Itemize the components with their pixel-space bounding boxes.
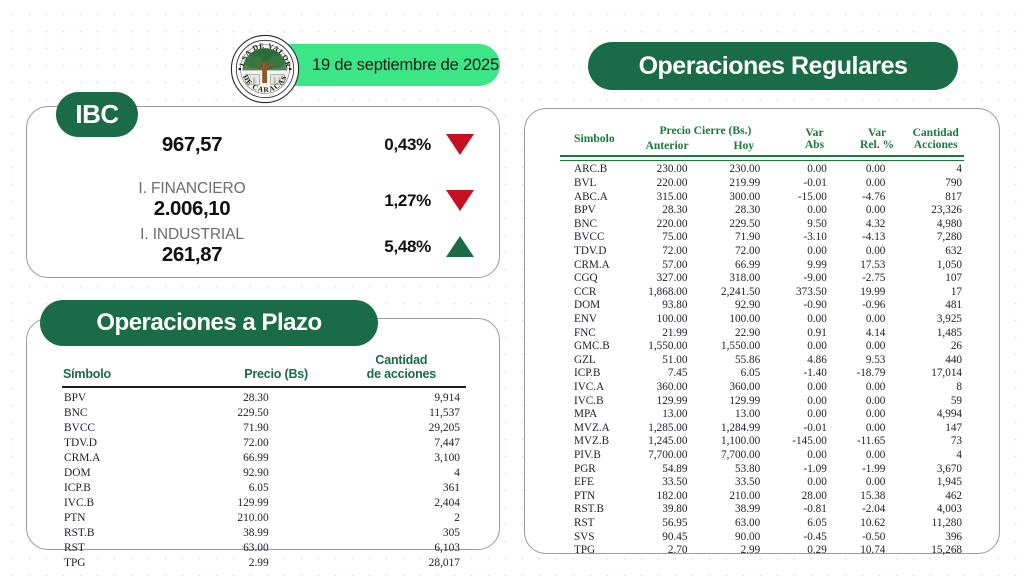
triangle-up-icon [445, 236, 475, 257]
reg-cell-var-abs: 0.00 [782, 394, 847, 408]
reg-cell-var-abs: -145.00 [782, 435, 847, 449]
reg-cell-anterior: 39.80 [629, 503, 706, 517]
table-row: GZL51.0055.864.869.53440 [560, 354, 964, 368]
reg-cell-cantidad: 4 [907, 160, 964, 176]
reg-cell-var-rel: 0.00 [847, 449, 908, 463]
reg-cell-symbol: CRM.A [560, 258, 629, 272]
reg-cell-symbol: BVCC [560, 231, 629, 245]
table-row: TDV.D72.0072.000.000.00632 [560, 245, 964, 259]
reg-cell-anterior: 13.00 [629, 408, 706, 422]
reg-cell-var-rel: -4.13 [847, 231, 908, 245]
reg-cell-anterior: 72.00 [629, 245, 706, 259]
regulares-table-body: ARC.B230.00230.000.000.004BVL220.00219.9… [560, 160, 964, 557]
reg-col-quantity-line1: Cantidad [907, 126, 964, 139]
reg-cell-cantidad: 147 [907, 422, 964, 436]
reg-cell-var-rel: 10.62 [847, 517, 908, 531]
reg-cell-var-abs: 0.00 [782, 476, 847, 490]
reg-cell-anterior: 1,285.00 [629, 422, 706, 436]
reg-cell-symbol: MVZ.A [560, 422, 629, 436]
table-row: MVZ.B1,245.001,100.00-145.00-11.6573 [560, 435, 964, 449]
reg-cell-hoy: 66.99 [705, 258, 782, 272]
reg-cell-anterior: 1,868.00 [629, 286, 706, 300]
reg-cell-hoy: 33.50 [705, 476, 782, 490]
table-row: RST.B39.8038.99-0.81-2.044,003 [560, 503, 964, 517]
reg-cell-var-rel: 0.00 [847, 177, 908, 191]
reg-cell-var-rel: 0.00 [847, 340, 908, 354]
plazo-cell-symbol: BVCC [62, 421, 216, 436]
reg-col-price-group: Precio Cierre (Bs.) [629, 124, 783, 139]
table-row: BPV28.3028.300.000.0023,326 [560, 204, 964, 218]
reg-cell-hoy: 219.99 [705, 177, 782, 191]
table-row: EFE33.5033.500.000.001,945 [560, 476, 964, 490]
reg-cell-anterior: 28.30 [629, 204, 706, 218]
reg-col-anterior: Anterior [629, 139, 706, 156]
reg-cell-var-abs: 0.00 [782, 245, 847, 259]
plazo-cell-symbol: DOM [62, 466, 216, 481]
plazo-cell-quantity: 305 [337, 526, 466, 541]
reg-cell-anterior: 75.00 [629, 231, 706, 245]
operaciones-plazo-title: Operaciones a Plazo [40, 300, 378, 346]
reg-cell-hoy: 63.00 [705, 517, 782, 531]
ibc-financiero-wrap: I. FINANCIERO 2.006,10 [27, 181, 357, 221]
reg-cell-var-rel: -18.79 [847, 367, 908, 381]
reg-cell-cantidad: 1,485 [907, 326, 964, 340]
regulares-header-row-top: Simbolo Precio Cierre (Bs.) Var Abs Var … [560, 124, 964, 139]
plazo-cell-price: 72.00 [216, 436, 337, 451]
reg-cell-hoy: 300.00 [705, 190, 782, 204]
table-row: ENV100.00100.000.000.003,925 [560, 313, 964, 327]
plazo-col-price: Precio (Bs) [216, 352, 337, 387]
reg-cell-anterior: 2.70 [629, 544, 706, 558]
reg-cell-anterior: 21.99 [629, 326, 706, 340]
reg-cell-cantidad: 396 [907, 530, 964, 544]
reg-cell-cantidad: 817 [907, 190, 964, 204]
table-row: GMC.B1,550.001,550.000.000.0026 [560, 340, 964, 354]
reg-cell-hoy: 28.30 [705, 204, 782, 218]
table-row: TPG2.9928,017 [62, 556, 466, 571]
ibc-financiero-value: 2.006,10 [27, 197, 357, 221]
plazo-cell-symbol: RST.B [62, 526, 216, 541]
reg-cell-symbol: PTN [560, 490, 629, 504]
reg-cell-hoy: 100.00 [705, 313, 782, 327]
table-row: PTN210.002 [62, 511, 466, 526]
table-row: CGQ327.00318.00-9.00-2.75107 [560, 272, 964, 286]
reg-cell-var-abs: 0.00 [782, 408, 847, 422]
reg-cell-anterior: 220.00 [629, 218, 706, 232]
reg-cell-anterior: 327.00 [629, 272, 706, 286]
reg-cell-anterior: 100.00 [629, 313, 706, 327]
reg-cell-var-rel: 10.74 [847, 544, 908, 558]
plazo-cell-symbol: IVC.B [62, 496, 216, 511]
plazo-cell-price: 38.99 [216, 526, 337, 541]
operaciones-plazo-table: Símbolo Precio (Bs) Cantidad de acciones… [62, 352, 466, 571]
reg-cell-cantidad: 23,326 [907, 204, 964, 218]
reg-cell-cantidad: 73 [907, 435, 964, 449]
reg-cell-hoy: 92.90 [705, 299, 782, 313]
table-row: TPG2.702.990.2910.7415,268 [560, 544, 964, 558]
regulares-table-head: Simbolo Precio Cierre (Bs.) Var Abs Var … [560, 124, 964, 160]
table-row: RST56.9563.006.0510.6211,280 [560, 517, 964, 531]
ibc-industrial-value: 261,87 [27, 243, 357, 267]
reg-cell-anterior: 7.45 [629, 367, 706, 381]
table-row: MPA13.0013.000.000.004,994 [560, 408, 964, 422]
reg-cell-cantidad: 3,670 [907, 462, 964, 476]
reg-cell-var-rel: 0.00 [847, 422, 908, 436]
plazo-cell-symbol: BNC [62, 406, 216, 421]
reg-cell-var-rel: 0.00 [847, 476, 908, 490]
table-row: BNC229.5011,537 [62, 406, 466, 421]
reg-cell-symbol: BVL [560, 177, 629, 191]
reg-cell-var-rel: 0.00 [847, 160, 908, 176]
reg-col-var-rel: Var Rel. % [847, 124, 908, 156]
table-row: PIV.B7,700.007,700.000.000.004 [560, 449, 964, 463]
plazo-cell-price: 229.50 [216, 406, 337, 421]
reg-cell-var-abs: 0.00 [782, 381, 847, 395]
reg-cell-var-abs: -0.90 [782, 299, 847, 313]
plazo-col-symbol: Símbolo [62, 352, 216, 387]
reg-cell-hoy: 72.00 [705, 245, 782, 259]
reg-cell-symbol: FNC [560, 326, 629, 340]
reg-col-symbol: Simbolo [560, 124, 629, 156]
reg-cell-var-abs: -0.01 [782, 422, 847, 436]
plazo-table-head: Símbolo Precio (Bs) Cantidad de acciones [62, 352, 466, 387]
reg-cell-var-abs: -0.45 [782, 530, 847, 544]
plazo-cell-quantity: 4 [337, 466, 466, 481]
reg-cell-var-rel: 15.38 [847, 490, 908, 504]
reg-cell-anterior: 51.00 [629, 354, 706, 368]
reg-cell-hoy: 90.00 [705, 530, 782, 544]
reg-cell-cantidad: 462 [907, 490, 964, 504]
reg-cell-symbol: TPG [560, 544, 629, 558]
reg-cell-hoy: 1,284.99 [705, 422, 782, 436]
table-row: TDV.D72.007,447 [62, 436, 466, 451]
reg-cell-anterior: 220.00 [629, 177, 706, 191]
ibc-industrial-label: I. INDUSTRIAL [27, 227, 357, 243]
table-row: BVCC71.9029,205 [62, 421, 466, 436]
bvc-logo-icon: BOLSA DE VALORES DE CARACAS [230, 34, 300, 104]
reg-cell-anterior: 1,245.00 [629, 435, 706, 449]
ibc-financiero-pct: 1,27% [357, 191, 431, 211]
reg-cell-var-abs: -3.10 [782, 231, 847, 245]
plazo-cell-symbol: RST [62, 541, 216, 556]
reg-cell-var-rel: 4.32 [847, 218, 908, 232]
reg-cell-hoy: 229.50 [705, 218, 782, 232]
plazo-col-quantity-line2: de acciones [338, 367, 465, 381]
reg-cell-hoy: 38.99 [705, 503, 782, 517]
reg-cell-var-rel: -2.04 [847, 503, 908, 517]
operaciones-regulares-title: Operaciones Regulares [588, 42, 958, 90]
reg-cell-cantidad: 632 [907, 245, 964, 259]
reg-cell-hoy: 55.86 [705, 354, 782, 368]
reg-cell-anterior: 54.89 [629, 462, 706, 476]
reg-cell-var-rel: 0.00 [847, 381, 908, 395]
triangle-down-icon [445, 134, 475, 155]
reg-cell-var-abs: 0.00 [782, 313, 847, 327]
reg-cell-symbol: RST [560, 517, 629, 531]
reg-cell-cantidad: 4,994 [907, 408, 964, 422]
reg-cell-anterior: 1,550.00 [629, 340, 706, 354]
plazo-cell-quantity: 28,017 [337, 556, 466, 571]
reg-cell-hoy: 1,100.00 [705, 435, 782, 449]
reg-col-var-rel-line1: Var [847, 126, 908, 139]
ibc-industrial-wrap: I. INDUSTRIAL 261,87 [27, 227, 357, 267]
plazo-col-quantity: Cantidad de acciones [337, 352, 466, 387]
table-row: FNC21.9922.900.914.141,485 [560, 326, 964, 340]
reg-cell-cantidad: 4 [907, 449, 964, 463]
reg-cell-hoy: 2.99 [705, 544, 782, 558]
plazo-cell-quantity: 3,100 [337, 451, 466, 466]
reg-cell-var-abs: -0.01 [782, 177, 847, 191]
reg-cell-hoy: 318.00 [705, 272, 782, 286]
reg-cell-symbol: GMC.B [560, 340, 629, 354]
plazo-cell-price: 63.00 [216, 541, 337, 556]
reg-cell-var-rel: 0.00 [847, 408, 908, 422]
reg-cell-cantidad: 1,050 [907, 258, 964, 272]
table-row: RST.B38.99305 [62, 526, 466, 541]
reg-cell-cantidad: 1,945 [907, 476, 964, 490]
reg-cell-symbol: ABC.A [560, 190, 629, 204]
reg-cell-symbol: SVS [560, 530, 629, 544]
reg-cell-symbol: ICP.B [560, 367, 629, 381]
reg-cell-cantidad: 17,014 [907, 367, 964, 381]
plazo-cell-quantity: 7,447 [337, 436, 466, 451]
plazo-cell-quantity: 29,205 [337, 421, 466, 436]
reg-col-hoy: Hoy [705, 139, 782, 156]
reg-cell-var-rel: 0.00 [847, 313, 908, 327]
reg-cell-symbol: BNC [560, 218, 629, 232]
reg-cell-cantidad: 59 [907, 394, 964, 408]
reg-cell-cantidad: 107 [907, 272, 964, 286]
reg-cell-var-abs: -9.00 [782, 272, 847, 286]
plazo-cell-quantity: 361 [337, 481, 466, 496]
reg-cell-var-abs: 4.86 [782, 354, 847, 368]
table-row: CCR1,868.002,241.50373.5019.9917 [560, 286, 964, 300]
table-row: DOM93.8092.90-0.90-0.96481 [560, 299, 964, 313]
reg-cell-cantidad: 26 [907, 340, 964, 354]
reg-cell-anterior: 90.45 [629, 530, 706, 544]
reg-cell-var-abs: 0.91 [782, 326, 847, 340]
table-row: RST63.006,103 [62, 541, 466, 556]
reg-cell-var-abs: -1.09 [782, 462, 847, 476]
table-row: CRM.A57.0066.999.9917.531,050 [560, 258, 964, 272]
table-row: MVZ.A1,285.001,284.99-0.010.00147 [560, 422, 964, 436]
reg-cell-var-rel: 4.14 [847, 326, 908, 340]
reg-cell-anterior: 33.50 [629, 476, 706, 490]
reg-col-var-abs-line1: Var [782, 126, 847, 139]
plazo-cell-quantity: 6,103 [337, 541, 466, 556]
table-row: PTN182.00210.0028.0015.38462 [560, 490, 964, 504]
reg-cell-var-abs: 28.00 [782, 490, 847, 504]
reg-cell-var-abs: 373.50 [782, 286, 847, 300]
reg-cell-cantidad: 17 [907, 286, 964, 300]
reg-cell-var-abs: 6.05 [782, 517, 847, 531]
reg-cell-anterior: 360.00 [629, 381, 706, 395]
reg-cell-var-abs: 0.00 [782, 340, 847, 354]
table-row: SVS90.4590.00-0.45-0.50396 [560, 530, 964, 544]
reg-col-quantity-line2: Acciones [907, 138, 964, 151]
table-row: DOM92.904 [62, 466, 466, 481]
reg-cell-symbol: PGR [560, 462, 629, 476]
reg-cell-symbol: ENV [560, 313, 629, 327]
reg-cell-var-rel: 17.53 [847, 258, 908, 272]
reg-cell-anterior: 315.00 [629, 190, 706, 204]
reg-cell-var-abs: 0.00 [782, 204, 847, 218]
reg-cell-symbol: GZL [560, 354, 629, 368]
table-row: ICP.B7.456.05-1.40-18.7917,014 [560, 367, 964, 381]
ibc-industrial-pct: 5,48% [357, 237, 431, 257]
reg-cell-hoy: 7,700.00 [705, 449, 782, 463]
reg-cell-var-rel: -2.75 [847, 272, 908, 286]
reg-cell-var-rel: 0.00 [847, 394, 908, 408]
table-row: BPV28.309,914 [62, 387, 466, 406]
reg-cell-var-rel: -0.96 [847, 299, 908, 313]
plazo-cell-symbol: BPV [62, 387, 216, 406]
table-row: BVCC75.0071.90-3.10-4.137,280 [560, 231, 964, 245]
operaciones-regulares-table: Simbolo Precio Cierre (Bs.) Var Abs Var … [560, 124, 964, 558]
plazo-header-row: Símbolo Precio (Bs) Cantidad de acciones [62, 352, 466, 387]
reg-cell-cantidad: 8 [907, 381, 964, 395]
reg-cell-hoy: 2,241.50 [705, 286, 782, 300]
plazo-cell-symbol: CRM.A [62, 451, 216, 466]
reg-cell-cantidad: 3,925 [907, 313, 964, 327]
reg-col-var-rel-line2: Rel. % [847, 138, 908, 151]
table-row: BNC220.00229.509.504.324,980 [560, 218, 964, 232]
plazo-cell-symbol: TDV.D [62, 436, 216, 451]
plazo-cell-price: 2.99 [216, 556, 337, 571]
reg-cell-var-abs: 9.50 [782, 218, 847, 232]
reg-col-var-abs: Var Abs [782, 124, 847, 156]
plazo-cell-price: 210.00 [216, 511, 337, 526]
reg-cell-hoy: 1,550.00 [705, 340, 782, 354]
table-row: ICP.B6.05361 [62, 481, 466, 496]
reg-cell-anterior: 56.95 [629, 517, 706, 531]
reg-cell-symbol: PIV.B [560, 449, 629, 463]
reg-cell-anterior: 93.80 [629, 299, 706, 313]
reg-cell-var-rel: -0.50 [847, 530, 908, 544]
plazo-cell-quantity: 11,537 [337, 406, 466, 421]
reg-cell-var-abs: -15.00 [782, 190, 847, 204]
plazo-table-body: BPV28.309,914BNC229.5011,537BVCC71.9029,… [62, 387, 466, 571]
reg-cell-anterior: 129.99 [629, 394, 706, 408]
reg-cell-anterior: 182.00 [629, 490, 706, 504]
reg-cell-anterior: 7,700.00 [629, 449, 706, 463]
reg-cell-symbol: CCR [560, 286, 629, 300]
plazo-cell-price: 28.30 [216, 387, 337, 406]
reg-cell-var-rel: 19.99 [847, 286, 908, 300]
reg-cell-cantidad: 7,280 [907, 231, 964, 245]
table-row: ABC.A315.00300.00-15.00-4.76817 [560, 190, 964, 204]
dashboard-root: 19 de septiembre de 2025 BOLSA DE VALORE… [0, 0, 1024, 576]
plazo-cell-price: 129.99 [216, 496, 337, 511]
reg-cell-var-rel: 9.53 [847, 354, 908, 368]
reg-cell-cantidad: 481 [907, 299, 964, 313]
reg-cell-var-rel: 0.00 [847, 204, 908, 218]
plazo-cell-price: 92.90 [216, 466, 337, 481]
reg-cell-var-rel: -1.99 [847, 462, 908, 476]
reg-cell-hoy: 129.99 [705, 394, 782, 408]
reg-cell-cantidad: 11,280 [907, 517, 964, 531]
reg-cell-var-abs: 0.00 [782, 160, 847, 176]
reg-cell-cantidad: 790 [907, 177, 964, 191]
reg-cell-cantidad: 15,268 [907, 544, 964, 558]
reg-cell-var-rel: 0.00 [847, 245, 908, 259]
reg-cell-symbol: ARC.B [560, 160, 629, 176]
table-row: BVL220.00219.99-0.010.00790 [560, 177, 964, 191]
reg-cell-symbol: MPA [560, 408, 629, 422]
reg-cell-var-abs: 0.29 [782, 544, 847, 558]
table-row: ARC.B230.00230.000.000.004 [560, 160, 964, 176]
reg-cell-symbol: CGQ [560, 272, 629, 286]
plazo-cell-quantity: 2,404 [337, 496, 466, 511]
reg-col-quantity: Cantidad Acciones [907, 124, 964, 156]
reg-cell-cantidad: 4,980 [907, 218, 964, 232]
reg-cell-var-abs: 0.00 [782, 449, 847, 463]
plazo-cell-symbol: PTN [62, 511, 216, 526]
reg-cell-hoy: 230.00 [705, 160, 782, 176]
reg-cell-var-rel: -11.65 [847, 435, 908, 449]
reg-cell-anterior: 57.00 [629, 258, 706, 272]
reg-cell-cantidad: 4,003 [907, 503, 964, 517]
reg-cell-hoy: 22.90 [705, 326, 782, 340]
reg-cell-symbol: RST.B [560, 503, 629, 517]
table-row: PGR54.8953.80-1.09-1.993,670 [560, 462, 964, 476]
reg-cell-hoy: 71.90 [705, 231, 782, 245]
table-row: IVC.A360.00360.000.000.008 [560, 381, 964, 395]
reg-cell-var-abs: 9.99 [782, 258, 847, 272]
reg-cell-symbol: TDV.D [560, 245, 629, 259]
reg-cell-var-abs: -1.40 [782, 367, 847, 381]
plazo-cell-quantity: 2 [337, 511, 466, 526]
ibc-main-pct: 0,43% [357, 135, 431, 155]
reg-cell-symbol: IVC.B [560, 394, 629, 408]
reg-cell-symbol: EFE [560, 476, 629, 490]
plazo-cell-symbol: ICP.B [62, 481, 216, 496]
reg-cell-symbol: BPV [560, 204, 629, 218]
reg-cell-var-rel: -4.76 [847, 190, 908, 204]
reg-cell-var-abs: -0.81 [782, 503, 847, 517]
plazo-col-quantity-line1: Cantidad [338, 353, 465, 367]
ibc-financiero-label: I. FINANCIERO [27, 181, 357, 197]
plazo-cell-quantity: 9,914 [337, 387, 466, 406]
reg-cell-symbol: IVC.A [560, 381, 629, 395]
reg-cell-hoy: 13.00 [705, 408, 782, 422]
reg-col-var-abs-line2: Abs [782, 138, 847, 151]
reg-cell-hoy: 360.00 [705, 381, 782, 395]
plazo-cell-price: 6.05 [216, 481, 337, 496]
reg-cell-symbol: DOM [560, 299, 629, 313]
reg-cell-hoy: 6.05 [705, 367, 782, 381]
reg-cell-symbol: MVZ.B [560, 435, 629, 449]
reg-cell-hoy: 210.00 [705, 490, 782, 504]
reg-cell-anterior: 230.00 [629, 160, 706, 176]
plazo-cell-price: 71.90 [216, 421, 337, 436]
table-row: IVC.B129.992,404 [62, 496, 466, 511]
table-row: IVC.B129.99129.990.000.0059 [560, 394, 964, 408]
plazo-cell-price: 66.99 [216, 451, 337, 466]
triangle-down-icon [445, 190, 475, 211]
reg-cell-hoy: 53.80 [705, 462, 782, 476]
table-row: CRM.A66.993,100 [62, 451, 466, 466]
plazo-cell-symbol: TPG [62, 556, 216, 571]
reg-cell-cantidad: 440 [907, 354, 964, 368]
ibc-badge: IBC [56, 92, 138, 137]
